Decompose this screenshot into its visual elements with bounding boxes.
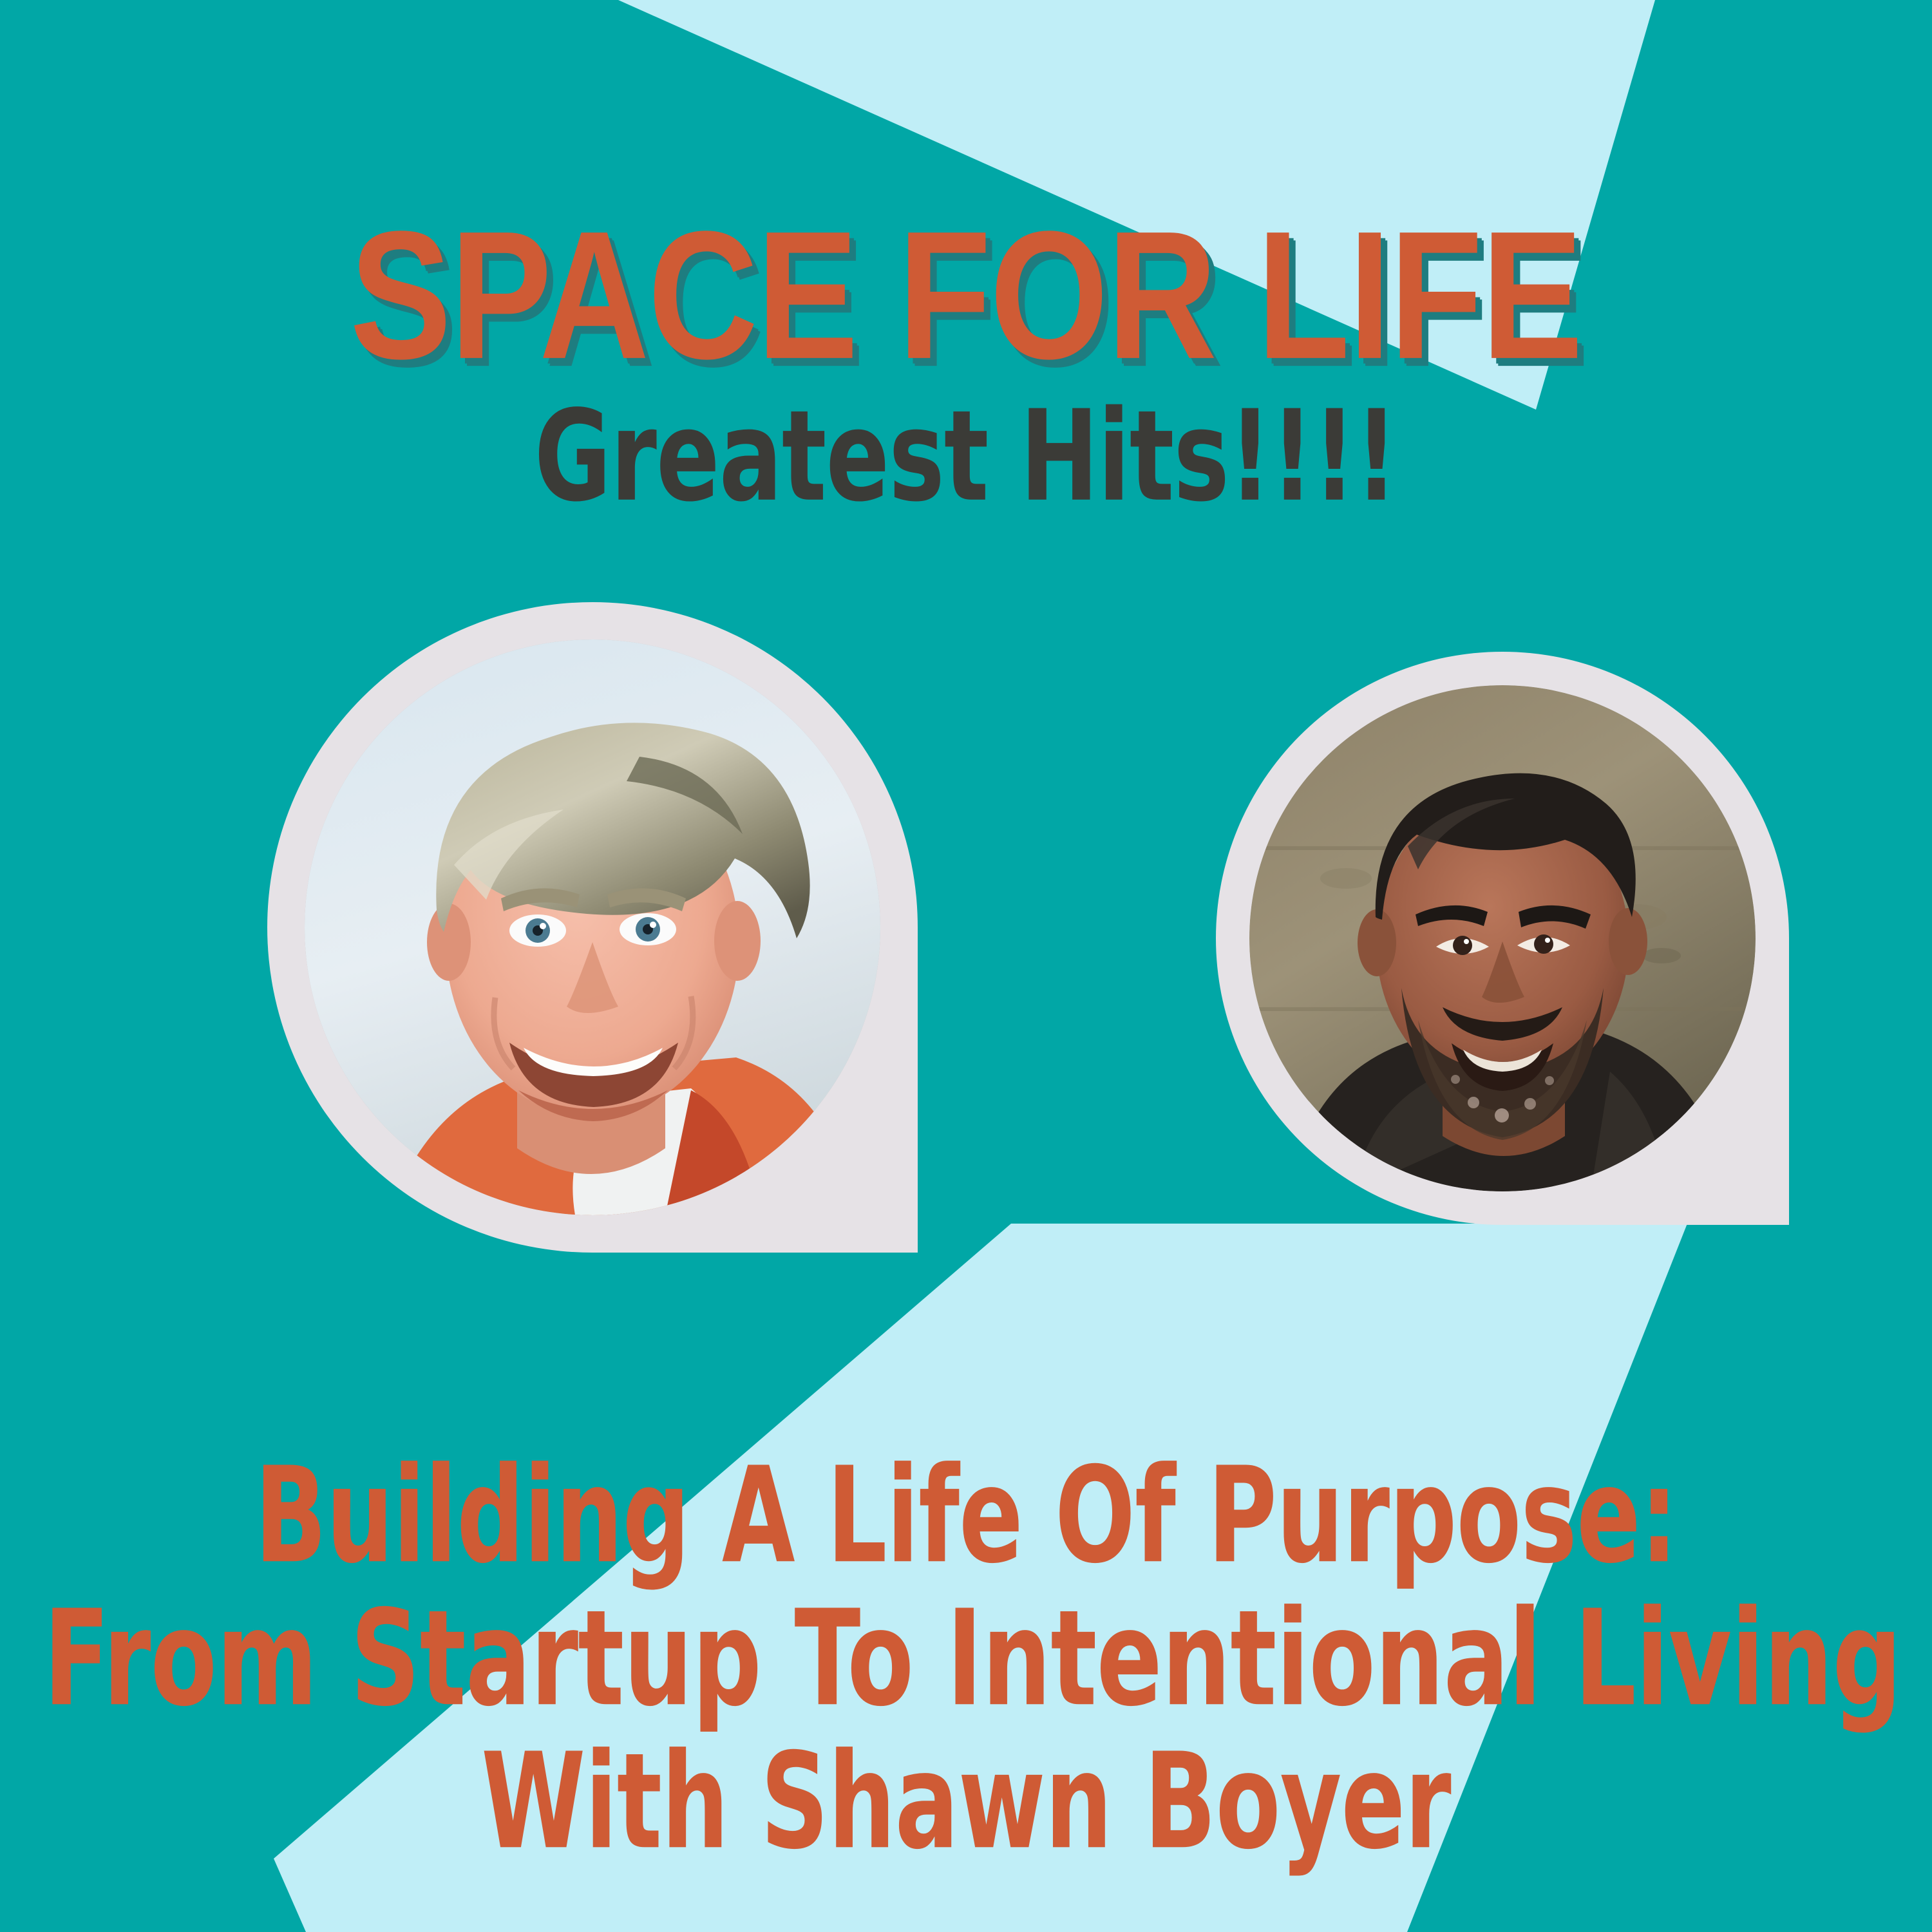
show-subtitle-container: Greatest Hits!!!! [0, 394, 1932, 491]
avatar-left [305, 639, 880, 1215]
avatar-frame-left [267, 602, 918, 1253]
avatar-left-image [305, 639, 880, 1215]
avatar-right-image [1249, 685, 1756, 1191]
show-title-container: SPACE FOR LIFE [0, 205, 1932, 354]
episode-title-line-3: With Shawn Boyer [68, 1709, 1864, 1895]
avatar-frame-right [1216, 652, 1789, 1225]
avatar-right [1249, 685, 1756, 1191]
page-title: SPACE FOR LIFE [350, 205, 1582, 387]
podcast-cover-art: SPACE FOR LIFE Greatest Hits!!!! [0, 0, 1932, 1932]
episode-title-container: Building A Life Of Purpose: From Startup… [0, 1444, 1932, 1873]
show-subtitle: Greatest Hits!!!! [535, 394, 1397, 520]
